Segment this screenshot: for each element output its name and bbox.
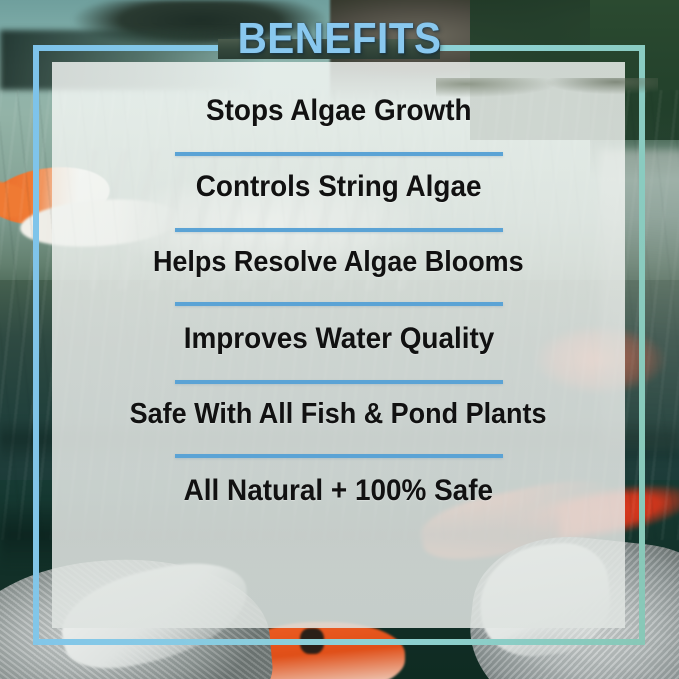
benefit-divider	[175, 454, 503, 458]
benefit-label: Safe With All Fish & Pond Plants	[130, 399, 547, 429]
list-item: Improves Water Quality	[52, 323, 625, 399]
page-title: BENEFITS	[27, 17, 652, 61]
benefit-label: All Natural + 100% Safe	[184, 475, 493, 507]
benefit-divider	[175, 152, 503, 156]
list-item: Helps Resolve Algae Blooms	[52, 247, 625, 323]
list-item: Stops Algae Growth	[52, 95, 625, 171]
koi-fish-bottom-marking	[300, 628, 324, 654]
benefit-divider	[175, 228, 503, 232]
benefit-divider	[175, 302, 503, 306]
benefit-label: Improves Water Quality	[183, 323, 494, 355]
benefit-divider	[175, 380, 503, 384]
benefits-poster: BENEFITS Stops Algae Growth Controls Str…	[0, 0, 679, 679]
benefits-list: Stops Algae Growth Controls String Algae…	[52, 95, 625, 551]
benefit-label: Controls String Algae	[196, 171, 482, 203]
benefit-label: Stops Algae Growth	[206, 95, 472, 127]
list-item: All Natural + 100% Safe	[52, 475, 625, 551]
benefit-label: Helps Resolve Algae Blooms	[153, 247, 524, 277]
list-item: Controls String Algae	[52, 171, 625, 247]
list-item: Safe With All Fish & Pond Plants	[52, 399, 625, 475]
